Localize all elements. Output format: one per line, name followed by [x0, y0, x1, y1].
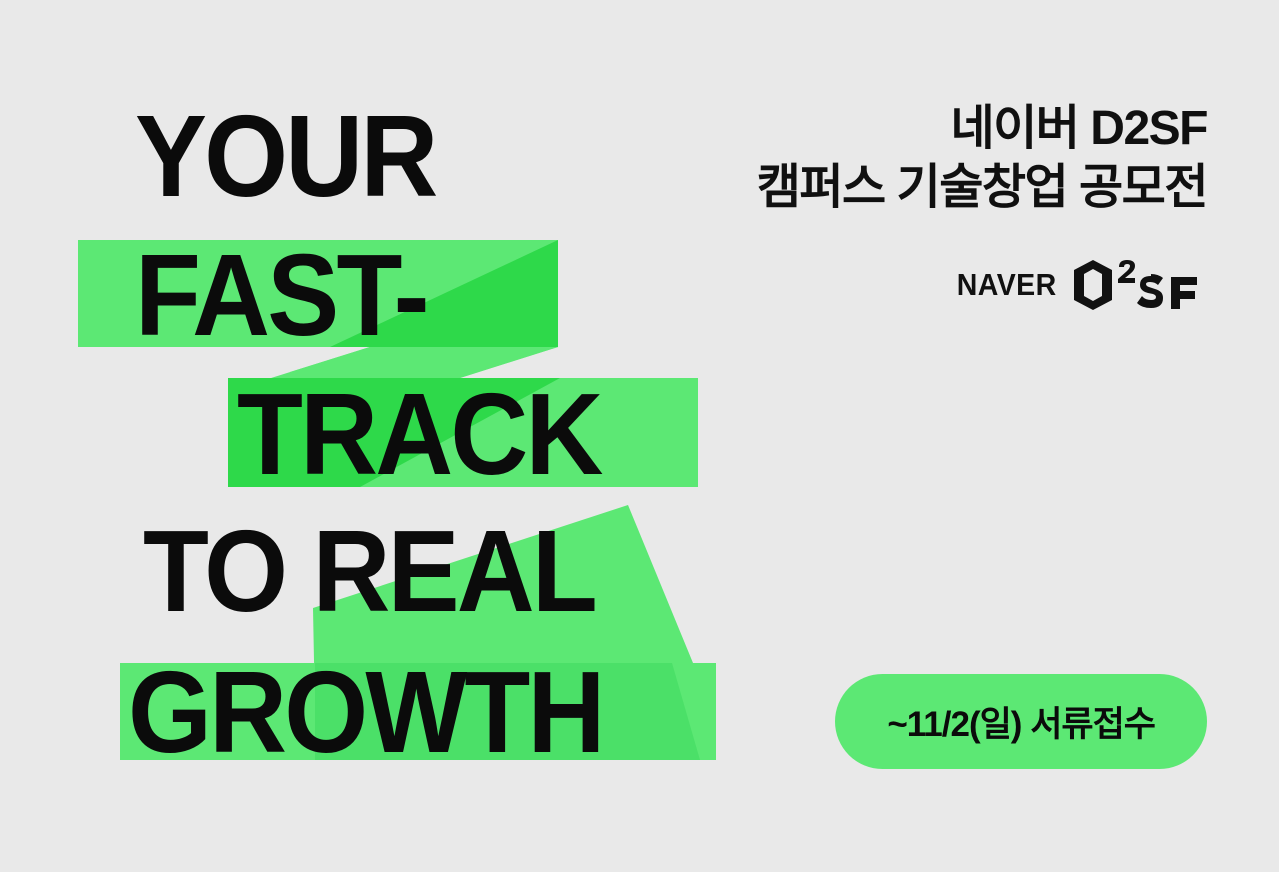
naver-wordmark: NAVER: [957, 267, 1057, 303]
naver-d2sf-logo: NAVER: [727, 259, 1207, 311]
d2sf-hexagon-logo-icon: [1071, 259, 1207, 311]
program-title: 네이버 D2SF 캠퍼스 기술창업 공모전: [727, 100, 1207, 217]
headline-line-2: FAST-: [135, 237, 427, 353]
headline-line-4: TO REAL: [143, 513, 595, 629]
headline-line-5: GROWTH: [128, 654, 603, 770]
application-deadline-badge[interactable]: ~11/2(일) 서류접수: [835, 674, 1207, 769]
headline-line-3: TRACK: [237, 376, 601, 492]
program-title-line-1: 네이버 D2SF: [950, 102, 1207, 155]
promo-banner: YOUR FAST- TRACK TO REAL GROWTH 네이버 D2SF…: [0, 0, 1279, 872]
brand-block: 네이버 D2SF 캠퍼스 기술창업 공모전 NAVER: [727, 100, 1207, 311]
program-title-line-2: 캠퍼스 기술창업 공모전: [727, 159, 1207, 218]
headline-line-1: YOUR: [135, 98, 436, 214]
